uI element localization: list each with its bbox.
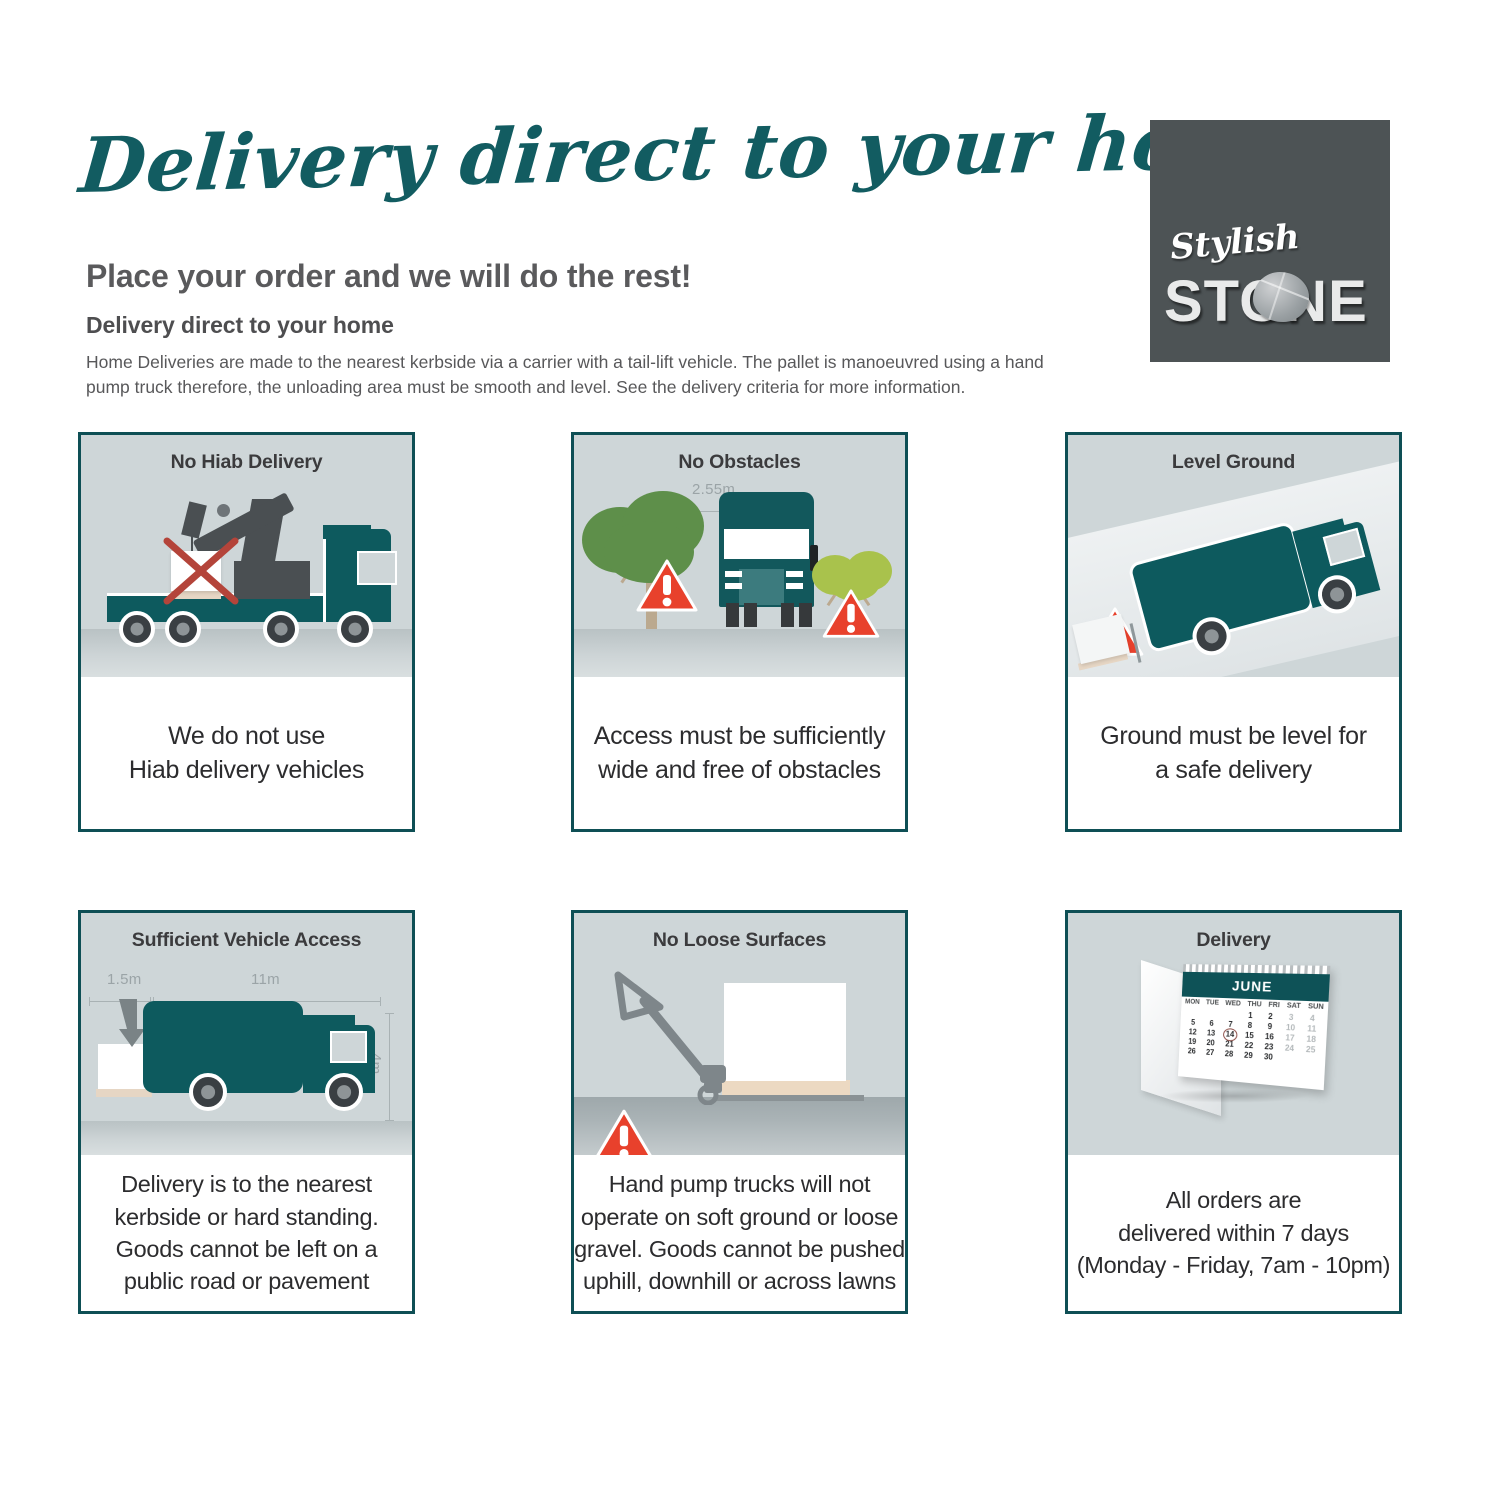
card-title: Sufficient Vehicle Access — [81, 929, 412, 952]
calendar-date: 11 — [1300, 1024, 1322, 1035]
calendar-date: 29 — [1238, 1050, 1258, 1060]
logo-script-text: Stylish — [1169, 217, 1302, 268]
illustration-sufficient-vehicle-access: Sufficient Vehicle Access 1.5m 11m 4m — [81, 913, 412, 1155]
calendar-shadow — [1159, 1089, 1309, 1103]
calendar-day-header: SAT — [1286, 1002, 1300, 1010]
calendar-month-label: JUNE — [1181, 972, 1329, 1002]
calendar-date: 12 — [1183, 1027, 1202, 1037]
card-no-hiab-delivery: No Hiab Delivery — [78, 432, 415, 832]
calendar-date: 10 — [1279, 1023, 1300, 1033]
calendar-date: 17 — [1279, 1033, 1300, 1044]
intro-paragraph: Home Deliveries are made to the nearest … — [86, 350, 1086, 401]
truck-wheel — [325, 1073, 363, 1111]
card-caption: We do not use Hiab delivery vehicles — [81, 677, 412, 829]
caption-line: Goods cannot be left on a — [116, 1233, 378, 1265]
card-caption: All orders are delivered within 7 days (… — [1068, 1155, 1399, 1311]
stone-pebble-icon — [1253, 272, 1309, 322]
calendar-date: 2 — [1260, 1011, 1281, 1021]
calendar-date: 16 — [1259, 1032, 1280, 1042]
truck-wheel — [744, 603, 757, 627]
calendar-day-header: TUE — [1205, 999, 1218, 1006]
calendar-date: 25 — [1299, 1044, 1321, 1055]
caption-line: Hand pump trucks will not — [609, 1168, 871, 1200]
truck-wheel — [165, 611, 201, 647]
truck-headlight — [786, 583, 803, 589]
page-section-heading: Delivery direct to your home — [86, 312, 394, 339]
truck-cab-roof — [323, 525, 371, 539]
calendar-date: 9 — [1259, 1022, 1280, 1032]
calendar-day-header: THU — [1247, 1001, 1261, 1009]
caption-line: delivered within 7 days — [1118, 1217, 1349, 1249]
caption-line: Delivery is to the nearest — [121, 1168, 372, 1200]
truck-wheel — [799, 603, 812, 627]
truck-grille — [739, 569, 784, 605]
calendar-date — [1221, 1010, 1241, 1020]
truck-wheel — [189, 1073, 227, 1111]
calendar-date — [1278, 1053, 1299, 1064]
truck-window — [330, 1031, 367, 1063]
calendar-date — [1202, 1009, 1221, 1019]
truck-headlight — [725, 583, 742, 589]
truck-front-panel — [724, 529, 809, 559]
ground-strip — [81, 1121, 412, 1155]
dimension-label-clearance: 1.5m — [107, 971, 142, 988]
truck-wheel — [726, 603, 739, 627]
calendar-date-highlighted: 14 — [1220, 1029, 1240, 1039]
calendar-date: 23 — [1258, 1042, 1279, 1053]
crane-pivot-icon — [217, 504, 230, 517]
pump-truck-fork — [714, 1095, 864, 1101]
calendar-date: 4 — [1301, 1013, 1323, 1023]
card-caption: Hand pump trucks will not operate on sof… — [574, 1155, 905, 1311]
caption-line: wide and free of obstacles — [598, 753, 881, 788]
caption-line: kerbside or hard standing. — [115, 1201, 379, 1233]
card-caption: Delivery is to the nearest kerbside or h… — [81, 1155, 412, 1311]
card-sufficient-vehicle-access: Sufficient Vehicle Access 1.5m 11m 4m — [78, 910, 415, 1314]
caption-line: (Monday - Friday, 7am - 10pm) — [1077, 1249, 1390, 1281]
caption-line: operate on soft ground or loose — [581, 1201, 898, 1233]
caption-line: gravel. Goods cannot be pushed — [574, 1233, 905, 1265]
caption-line: All orders are — [1166, 1184, 1302, 1216]
brand-logo: Stylish STONE — [1150, 120, 1390, 362]
dimension-label-length: 11m — [251, 971, 280, 988]
calendar-date: 24 — [1278, 1043, 1299, 1054]
truck-wheel — [119, 611, 155, 647]
illustration-level-ground: Level Ground — [1068, 435, 1399, 677]
caption-line: public road or pavement — [124, 1265, 369, 1297]
caption-line: a safe delivery — [1155, 753, 1312, 788]
calendar-date: 13 — [1201, 1028, 1220, 1038]
card-title: Level Ground — [1068, 451, 1399, 474]
truck-window — [357, 551, 397, 585]
truck-wheel — [337, 611, 373, 647]
calendar-date: 30 — [1258, 1052, 1279, 1063]
calendar-date: 27 — [1200, 1047, 1219, 1057]
calendar-date: 20 — [1201, 1038, 1220, 1048]
card-title: No Loose Surfaces — [574, 929, 905, 952]
calendar-date — [1299, 1055, 1321, 1066]
caption-line: Access must be sufficiently — [594, 719, 886, 754]
card-delivery: Delivery JUNE MON TUE WED THU FRI SAT SU… — [1065, 910, 1402, 1314]
card-title: No Hiab Delivery — [81, 451, 412, 474]
calendar-date: 15 — [1239, 1030, 1259, 1040]
calendar-date — [1184, 1008, 1203, 1017]
calendar-date-grid: 1 2 3 4 5 6 7 8 9 10 11 12 13 14 — [1182, 1008, 1323, 1066]
calendar-date: 3 — [1280, 1012, 1301, 1022]
illustration-no-hiab-delivery: No Hiab Delivery — [81, 435, 412, 677]
card-title: Delivery — [1068, 929, 1399, 952]
pallet-icon — [724, 983, 846, 1081]
pallet-base — [722, 1080, 850, 1095]
card-no-obstacles: No Obstacles 2.55m — [571, 432, 908, 832]
card-caption: Access must be sufficiently wide and fre… — [574, 677, 905, 829]
caption-line: Hiab delivery vehicles — [129, 753, 364, 788]
card-caption: Ground must be level for a safe delivery — [1068, 677, 1399, 829]
truck-wheel — [263, 611, 299, 647]
pallet-base — [96, 1089, 152, 1097]
calendar-date: 22 — [1238, 1040, 1258, 1050]
truck-headlight — [725, 571, 742, 577]
caption-line: Ground must be level for — [1100, 719, 1367, 754]
calendar-day-header: SUN — [1307, 1003, 1323, 1011]
calendar-date: 1 — [1240, 1011, 1260, 1021]
desk-calendar-icon: JUNE MON TUE WED THU FRI SAT SUN — [1139, 965, 1329, 1105]
caption-line: We do not use — [168, 719, 325, 754]
calendar-day-header: FRI — [1268, 1002, 1280, 1010]
calendar-day-header: MON — [1184, 999, 1199, 1006]
card-title: No Obstacles — [574, 451, 905, 474]
dimension-line-height — [389, 1013, 390, 1121]
card-level-ground: Level Ground Ground — [1065, 432, 1402, 832]
page-title: Delivery direct to your home — [77, 102, 1317, 204]
truck-headlight — [786, 571, 803, 577]
calendar-face: JUNE MON TUE WED THU FRI SAT SUN — [1177, 964, 1329, 1090]
truck-cab-roof — [303, 1015, 355, 1027]
illustration-no-loose-surfaces: No Loose Surfaces — [574, 913, 905, 1155]
calendar-date: 5 — [1183, 1018, 1202, 1028]
caption-line: uphill, downhill or across lawns — [583, 1265, 896, 1297]
calendar-date: 8 — [1239, 1020, 1259, 1030]
calendar-date: 28 — [1219, 1049, 1239, 1059]
calendar-date: 19 — [1182, 1037, 1201, 1047]
calendar-date: 26 — [1182, 1046, 1201, 1056]
calendar-date: 6 — [1202, 1019, 1221, 1029]
illustration-no-obstacles: No Obstacles 2.55m — [574, 435, 905, 677]
truck-body — [143, 1001, 303, 1093]
card-no-loose-surfaces: No Loose Surfaces — [571, 910, 908, 1314]
page-header: Delivery direct to your home Place your … — [0, 0, 1500, 420]
calendar-date: 18 — [1300, 1034, 1322, 1045]
truck-wheel — [781, 603, 794, 627]
page-subtitle: Place your order and we will do the rest… — [86, 258, 691, 295]
crane-boom-tip — [181, 501, 207, 538]
calendar-day-header: WED — [1225, 1000, 1241, 1008]
illustration-delivery: Delivery JUNE MON TUE WED THU FRI SAT SU… — [1068, 913, 1399, 1155]
